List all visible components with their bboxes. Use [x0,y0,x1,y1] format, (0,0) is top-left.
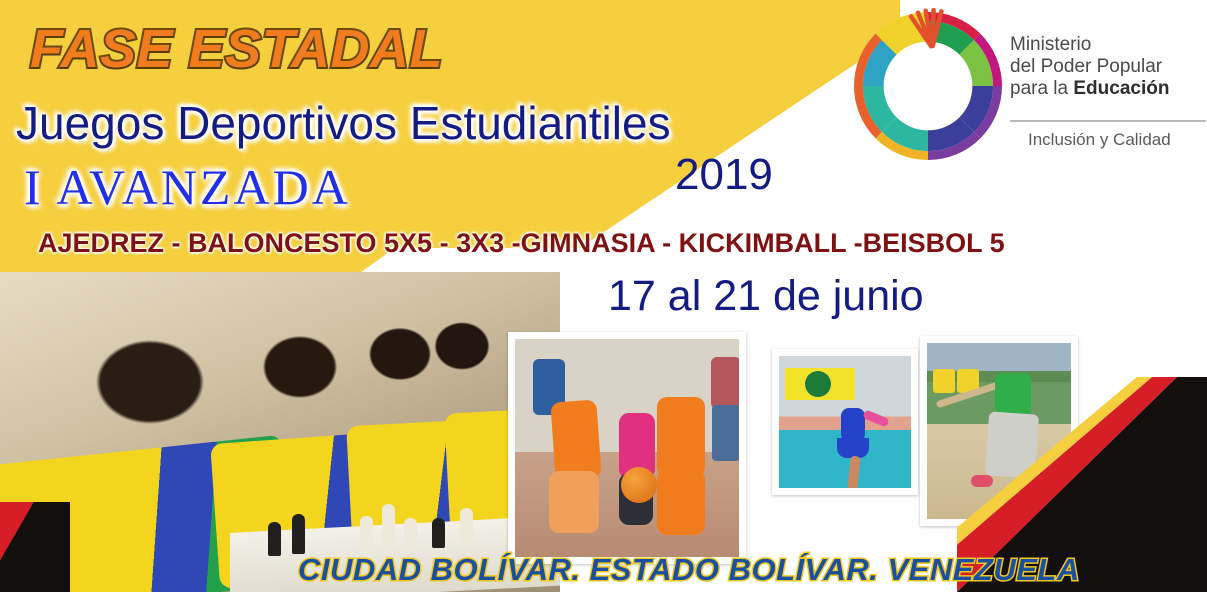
ministry-line-2: del Poder Popular [1010,56,1207,78]
gymnastics-photo [772,349,918,495]
poster-root: FASE ESTADAL Juegos Deportivos Estudiant… [0,0,1207,592]
flag-wedge-lower-strip [0,502,70,592]
player-orange-2-legs [657,469,705,535]
chess-piece [404,518,417,552]
chess-piece [360,516,373,552]
basketball [621,467,657,503]
ministry-line-3-prefix: para la [1010,78,1073,99]
banner-emblem [805,371,831,397]
date-range: 17 al 21 de junio [608,272,924,321]
chess-piece [432,518,445,548]
event-year: 2019 [675,150,773,200]
ministry-tagline: Inclusión y Calidad [1028,130,1171,150]
sports-list: AJEDREZ - BALONCESTO 5X5 - 3X3 -GIMNASIA… [38,228,1005,259]
ministry-line-3-bold: Educación [1073,78,1169,99]
location-line: CIUDAD BOLÍVAR. ESTADO BOLÍVAR. VENEZUEL… [298,552,1080,588]
chess-piece [292,514,305,554]
spectator-legs [712,405,740,461]
stadium-chair [933,369,955,393]
player-orange-legs [549,471,599,533]
gymnast-arm [862,409,889,427]
ministry-wordmark: Ministerio del Poder Popular para la Edu… [1010,34,1207,100]
chess-piece [460,508,473,546]
player-orange-2 [657,397,705,477]
ministry-divider [1010,120,1206,122]
basketball-photo [508,332,746,564]
gymnast-torso [841,408,865,442]
chess-piece [382,504,395,550]
chess-photo [0,272,560,592]
gymnast-leg [847,456,860,491]
fase-estadal-heading: FASE ESTADAL [30,18,443,80]
ministry-line-1: Ministerio [1010,34,1207,56]
chess-piece [268,522,281,556]
ministry-line-3: para la Educación [1010,78,1207,100]
ministry-logo: Ministerio del Poder Popular para la Edu… [848,2,1204,170]
player-orange [550,399,601,480]
spectator-figure [711,357,741,409]
stage-label: I AVANZADA [24,158,351,216]
event-title: Juegos Deportivos Estudiantiles [16,96,671,150]
ministry-rays-icon [868,0,958,52]
